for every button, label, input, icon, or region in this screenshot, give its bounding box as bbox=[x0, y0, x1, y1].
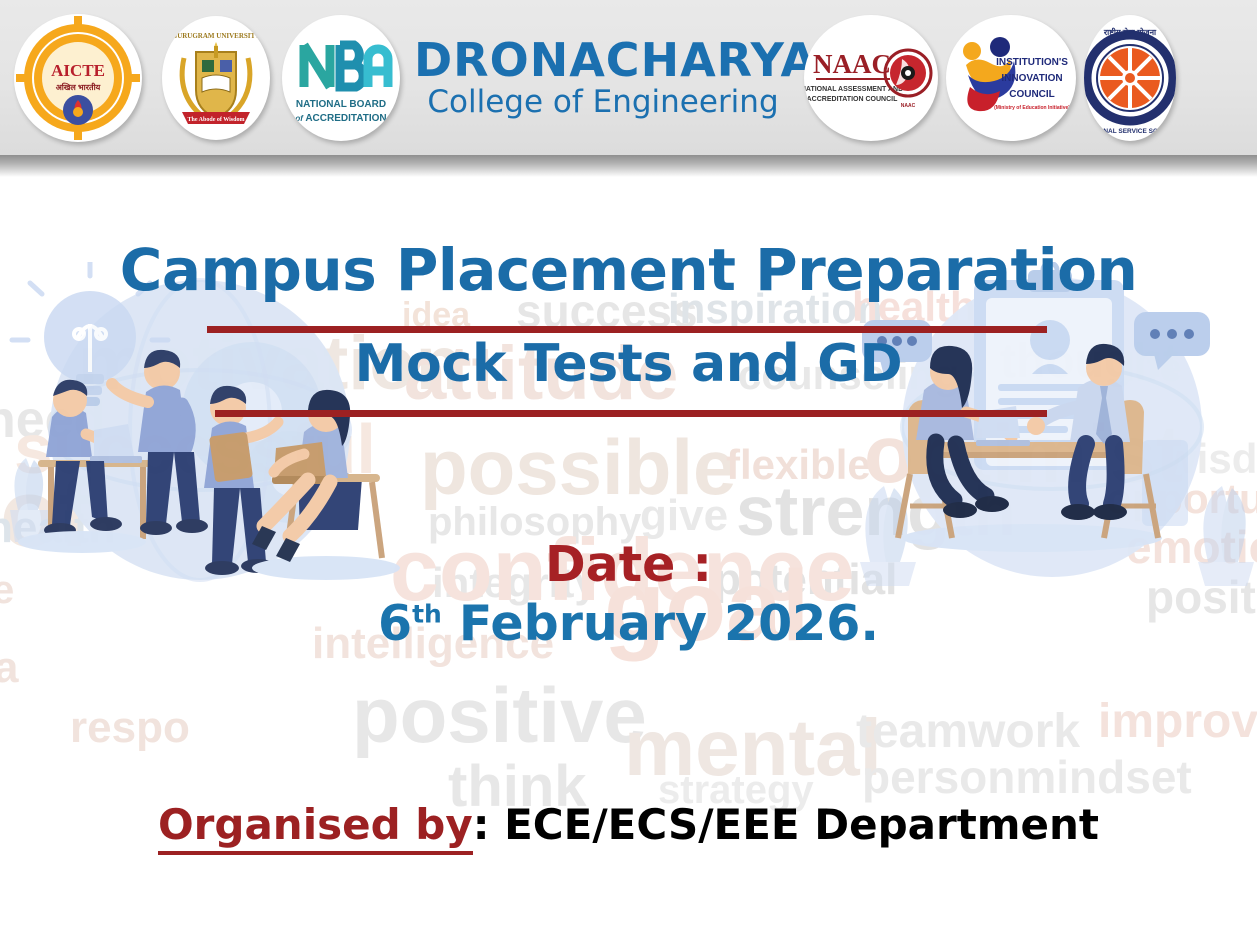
page-title-line2: Mock Tests and GD bbox=[0, 334, 1257, 394]
gurugram-university-logo: GURUGRAM UNIVERSITY The Abode of Wisdom bbox=[162, 16, 270, 140]
svg-text:NATIONAL BOARD: NATIONAL BOARD bbox=[296, 99, 386, 110]
organised-by-label: Organised by bbox=[158, 800, 473, 855]
aicte-logo: AICTE अखिल भारतीय bbox=[14, 14, 142, 142]
nba-logo: NATIONAL BOARD of ACCREDITATION bbox=[282, 15, 400, 141]
page-title-line1: Campus Placement Preparation bbox=[0, 236, 1257, 304]
accreditation-logo-row: AICTE अखिल भारतीय GURUGRAM UNIVERSITY bbox=[0, 0, 1257, 155]
slide-content: Campus Placement Preparation Mock Tests … bbox=[0, 176, 1257, 942]
svg-text:AICTE: AICTE bbox=[51, 61, 105, 80]
svg-text:INSTITUTION'S: INSTITUTION'S bbox=[996, 57, 1068, 68]
svg-text:ACCREDITATION COUNCIL: ACCREDITATION COUNCIL bbox=[807, 96, 898, 103]
header-shadow bbox=[0, 155, 1257, 177]
svg-text:अखिल भारतीय: अखिल भारतीय bbox=[56, 82, 101, 92]
dronacharya-college-wordmark: DRONACHARYA College of Engineering bbox=[414, 37, 792, 118]
title-underline-2 bbox=[215, 410, 1047, 417]
slide-canvas: ideasuccessinspirationhealthmotivationne… bbox=[0, 0, 1257, 942]
date-month-year: February 2026. bbox=[459, 595, 879, 652]
svg-text:of ACCREDITATION: of ACCREDITATION bbox=[295, 113, 386, 124]
naac-logo: NAAC NATIONAL ASSESSMENT AND ACCREDITATI… bbox=[804, 15, 938, 141]
institutions-innovation-council-logo: INSTITUTION'S INNOVATION COUNCIL (Minist… bbox=[946, 15, 1076, 141]
svg-text:NAAC: NAAC bbox=[901, 103, 916, 109]
svg-text:The Abode of Wisdom: The Abode of Wisdom bbox=[188, 117, 245, 123]
nss-logo: राष्ट्रीय सेवा योजना NATIONAL SERVICE SC… bbox=[1084, 15, 1176, 141]
svg-text:(Ministry of Education Initiat: (Ministry of Education Initiative) bbox=[994, 105, 1070, 111]
date-value: 6th February 2026. bbox=[0, 595, 1257, 652]
svg-text:GURUGRAM UNIVERSITY: GURUGRAM UNIVERSITY bbox=[172, 32, 260, 40]
dronacharya-name: DRONACHARYA bbox=[414, 37, 792, 83]
title-underline-1 bbox=[207, 326, 1047, 333]
svg-text:राष्ट्रीय सेवा योजना: राष्ट्रीय सेवा योजना bbox=[1103, 27, 1157, 37]
svg-text:NAAC: NAAC bbox=[813, 49, 891, 79]
date-ordinal: th bbox=[412, 600, 442, 629]
organised-by-value: : ECE/ECS/EEE Department bbox=[473, 800, 1099, 849]
svg-text:NATIONAL SERVICE SCHEME: NATIONAL SERVICE SCHEME bbox=[1084, 128, 1176, 135]
svg-text:COUNCIL: COUNCIL bbox=[1009, 89, 1055, 100]
svg-text:INNOVATION: INNOVATION bbox=[1001, 73, 1062, 84]
organised-by-line: Organised by: ECE/ECS/EEE Department bbox=[0, 800, 1257, 849]
date-day: 6 bbox=[378, 595, 412, 652]
date-label: Date : bbox=[0, 536, 1257, 593]
dronacharya-tagline: College of Engineering bbox=[414, 87, 792, 118]
